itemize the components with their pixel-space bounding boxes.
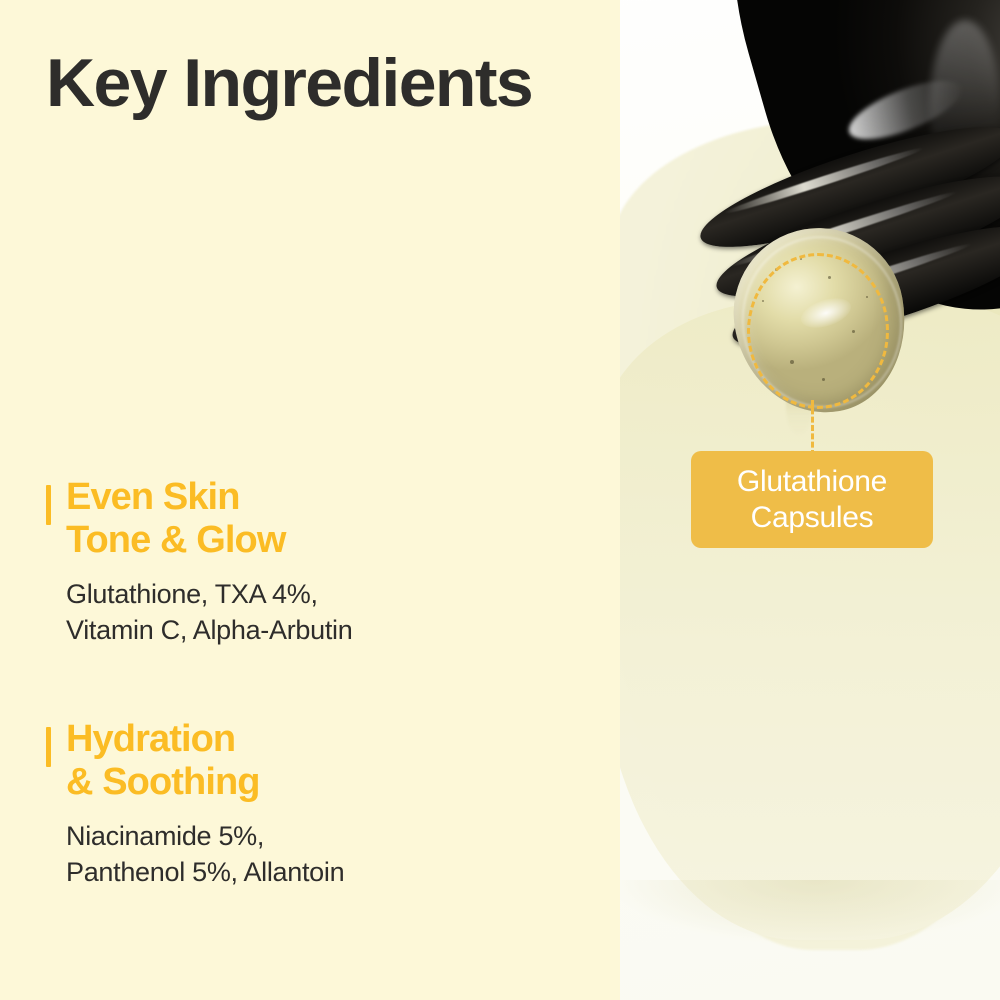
accent-bar-icon bbox=[46, 485, 51, 525]
callout-leader-line-icon bbox=[811, 400, 814, 456]
content-panel: Key Ingredients Even Skin Tone & Glow Gl… bbox=[0, 0, 620, 1000]
ingredient-block: Hydration & Soothing Niacinamide 5%, Pan… bbox=[46, 718, 344, 890]
accent-bar-icon bbox=[46, 727, 51, 767]
page-title: Key Ingredients bbox=[46, 48, 532, 119]
ingredient-body: Glutathione, TXA 4%, Vitamin C, Alpha-Ar… bbox=[66, 577, 352, 649]
annotation-layer: Glutathione Capsules bbox=[618, 0, 1000, 1000]
capsule-highlight-circle-icon bbox=[747, 253, 889, 409]
callout-badge[interactable]: Glutathione Capsules bbox=[691, 451, 933, 548]
ingredient-block: Even Skin Tone & Glow Glutathione, TXA 4… bbox=[46, 476, 352, 648]
ingredient-heading: Hydration & Soothing bbox=[66, 718, 344, 805]
product-feature-graphic: Glutathione Capsules Key Ingredients Eve… bbox=[0, 0, 1000, 1000]
ingredient-body: Niacinamide 5%, Panthenol 5%, Allantoin bbox=[66, 819, 344, 891]
product-photo: Glutathione Capsules bbox=[618, 0, 1000, 1000]
callout-badge-label: Glutathione Capsules bbox=[737, 464, 887, 536]
ingredient-heading: Even Skin Tone & Glow bbox=[66, 476, 352, 563]
